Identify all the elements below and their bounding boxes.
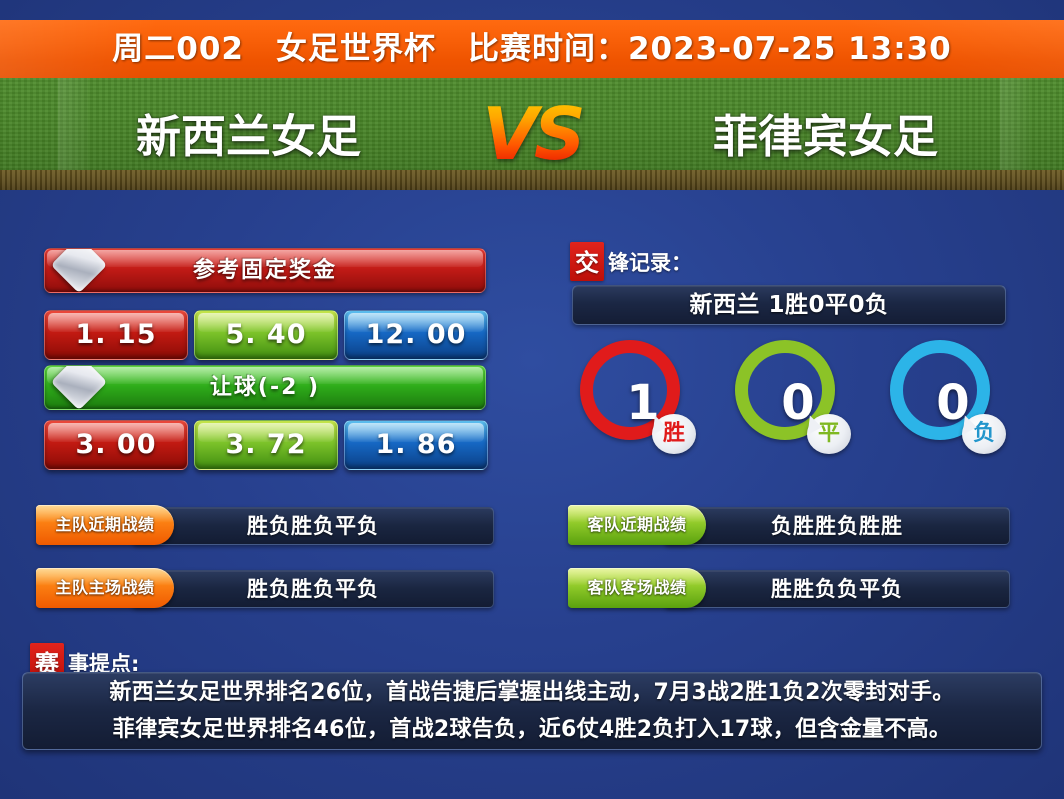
home-home-form-row: 胜负胜负平负 主队主场战绩 (36, 568, 492, 608)
handicap-title-prefix: 让球( (210, 375, 270, 400)
home-recent-form-label: 主队近期战绩 (36, 505, 174, 545)
home-home-form-bar: 胜负胜负平负 (132, 570, 494, 608)
handicap-value: -2 (270, 375, 298, 400)
home-recent-form-tag: 主队近期战绩 (36, 505, 174, 545)
away-recent-form-value: 负胜胜负胜胜 (665, 508, 1009, 544)
away-away-form-value: 胜胜负负平负 (665, 571, 1009, 607)
h2h-circle-win: 1 胜 (580, 340, 680, 440)
analysis-line-1: 新西兰女足世界排名26位，首战告捷后掌握出线主动，7月3战2胜1负2次零封对手。 (23, 673, 1041, 711)
odds-value: 3. 00 (45, 421, 187, 469)
fixed-odds-row: 1. 15 5. 40 12. 00 (44, 310, 486, 358)
h2h-circle-lose: 0 负 (890, 340, 990, 440)
away-away-form-label: 客队客场战绩 (568, 568, 706, 608)
handicap-button-draw[interactable]: 3. 72 (194, 420, 338, 470)
away-away-form-row: 胜胜负负平负 客队客场战绩 (568, 568, 1008, 608)
home-home-form-tag: 主队主场战绩 (36, 568, 174, 608)
away-recent-form-row: 负胜胜负胜胜 客队近期战绩 (568, 505, 1008, 545)
handicap-header: 让球(-2 ) (44, 365, 486, 410)
h2h-header-chip: 交 (570, 242, 604, 281)
fixed-odds-header: 参考固定奖金 (44, 248, 486, 293)
handicap-button-home-win[interactable]: 3. 00 (44, 420, 188, 470)
ring-badge-lose: 负 (962, 414, 1006, 454)
odds-button-away-win[interactable]: 12. 00 (344, 310, 488, 360)
handicap-title: 让球(-2 ) (45, 366, 485, 409)
odds-value: 1. 15 (45, 311, 187, 359)
match-preview-page: 周二002 女足世界杯 比赛时间：2023-07-25 13:30 新西兰女足 … (0, 0, 1064, 799)
header-bar: 周二002 女足世界杯 比赛时间：2023-07-25 13:30 (0, 20, 1064, 78)
fixed-odds-title: 参考固定奖金 (45, 249, 485, 292)
handicap-odds-row: 3. 00 3. 72 1. 86 (44, 420, 486, 468)
page-title: 周二002 女足世界杯 比赛时间：2023-07-25 13:30 (0, 20, 1064, 78)
home-home-form-label: 主队主场战绩 (36, 568, 174, 608)
away-recent-form-label: 客队近期战绩 (568, 505, 706, 545)
h2h-summary-text: 新西兰 1胜0平0负 (573, 286, 1005, 324)
away-away-form-bar: 胜胜负负平负 (664, 570, 1010, 608)
odds-value: 5. 40 (195, 311, 337, 359)
odds-button-draw[interactable]: 5. 40 (194, 310, 338, 360)
analysis-line-2: 菲律宾女足世界排名46位，首战2球告负，近6仗4胜2负打入17球，但含金量不高。 (23, 711, 1041, 748)
odds-value: 12. 00 (345, 311, 487, 359)
away-team-name: 菲律宾女足 (713, 100, 938, 165)
h2h-section-header: 交锋记录： (570, 242, 692, 272)
h2h-summary-bar: 新西兰 1胜0平0负 (572, 285, 1006, 325)
home-home-form-value: 胜负胜负平负 (133, 571, 493, 607)
odds-value: 3. 72 (195, 421, 337, 469)
home-recent-form-bar: 胜负胜负平负 (132, 507, 494, 545)
ring-badge-win: 胜 (652, 414, 696, 454)
odds-value: 1. 86 (345, 421, 487, 469)
home-recent-form-value: 胜负胜负平负 (133, 508, 493, 544)
away-away-form-tag: 客队客场战绩 (568, 568, 706, 608)
team-banner: 新西兰女足 VS 菲律宾女足 (0, 78, 1064, 190)
away-recent-form-bar: 负胜胜负胜胜 (664, 507, 1010, 545)
h2h-circle-draw: 0 平 (735, 340, 835, 440)
handicap-button-away-win[interactable]: 1. 86 (344, 420, 488, 470)
away-recent-form-tag: 客队近期战绩 (568, 505, 706, 545)
odds-button-home-win[interactable]: 1. 15 (44, 310, 188, 360)
home-recent-form-row: 胜负胜负平负 主队近期战绩 (36, 505, 492, 545)
h2h-header-text: 锋记录： (608, 247, 692, 277)
analysis-section-header: 赛事提点: (30, 643, 139, 673)
ring-badge-draw: 平 (807, 414, 851, 454)
handicap-title-suffix: ) (298, 375, 320, 400)
analysis-box: 新西兰女足世界排名26位，首战告捷后掌握出线主动，7月3战2胜1负2次零封对手。… (22, 672, 1042, 750)
